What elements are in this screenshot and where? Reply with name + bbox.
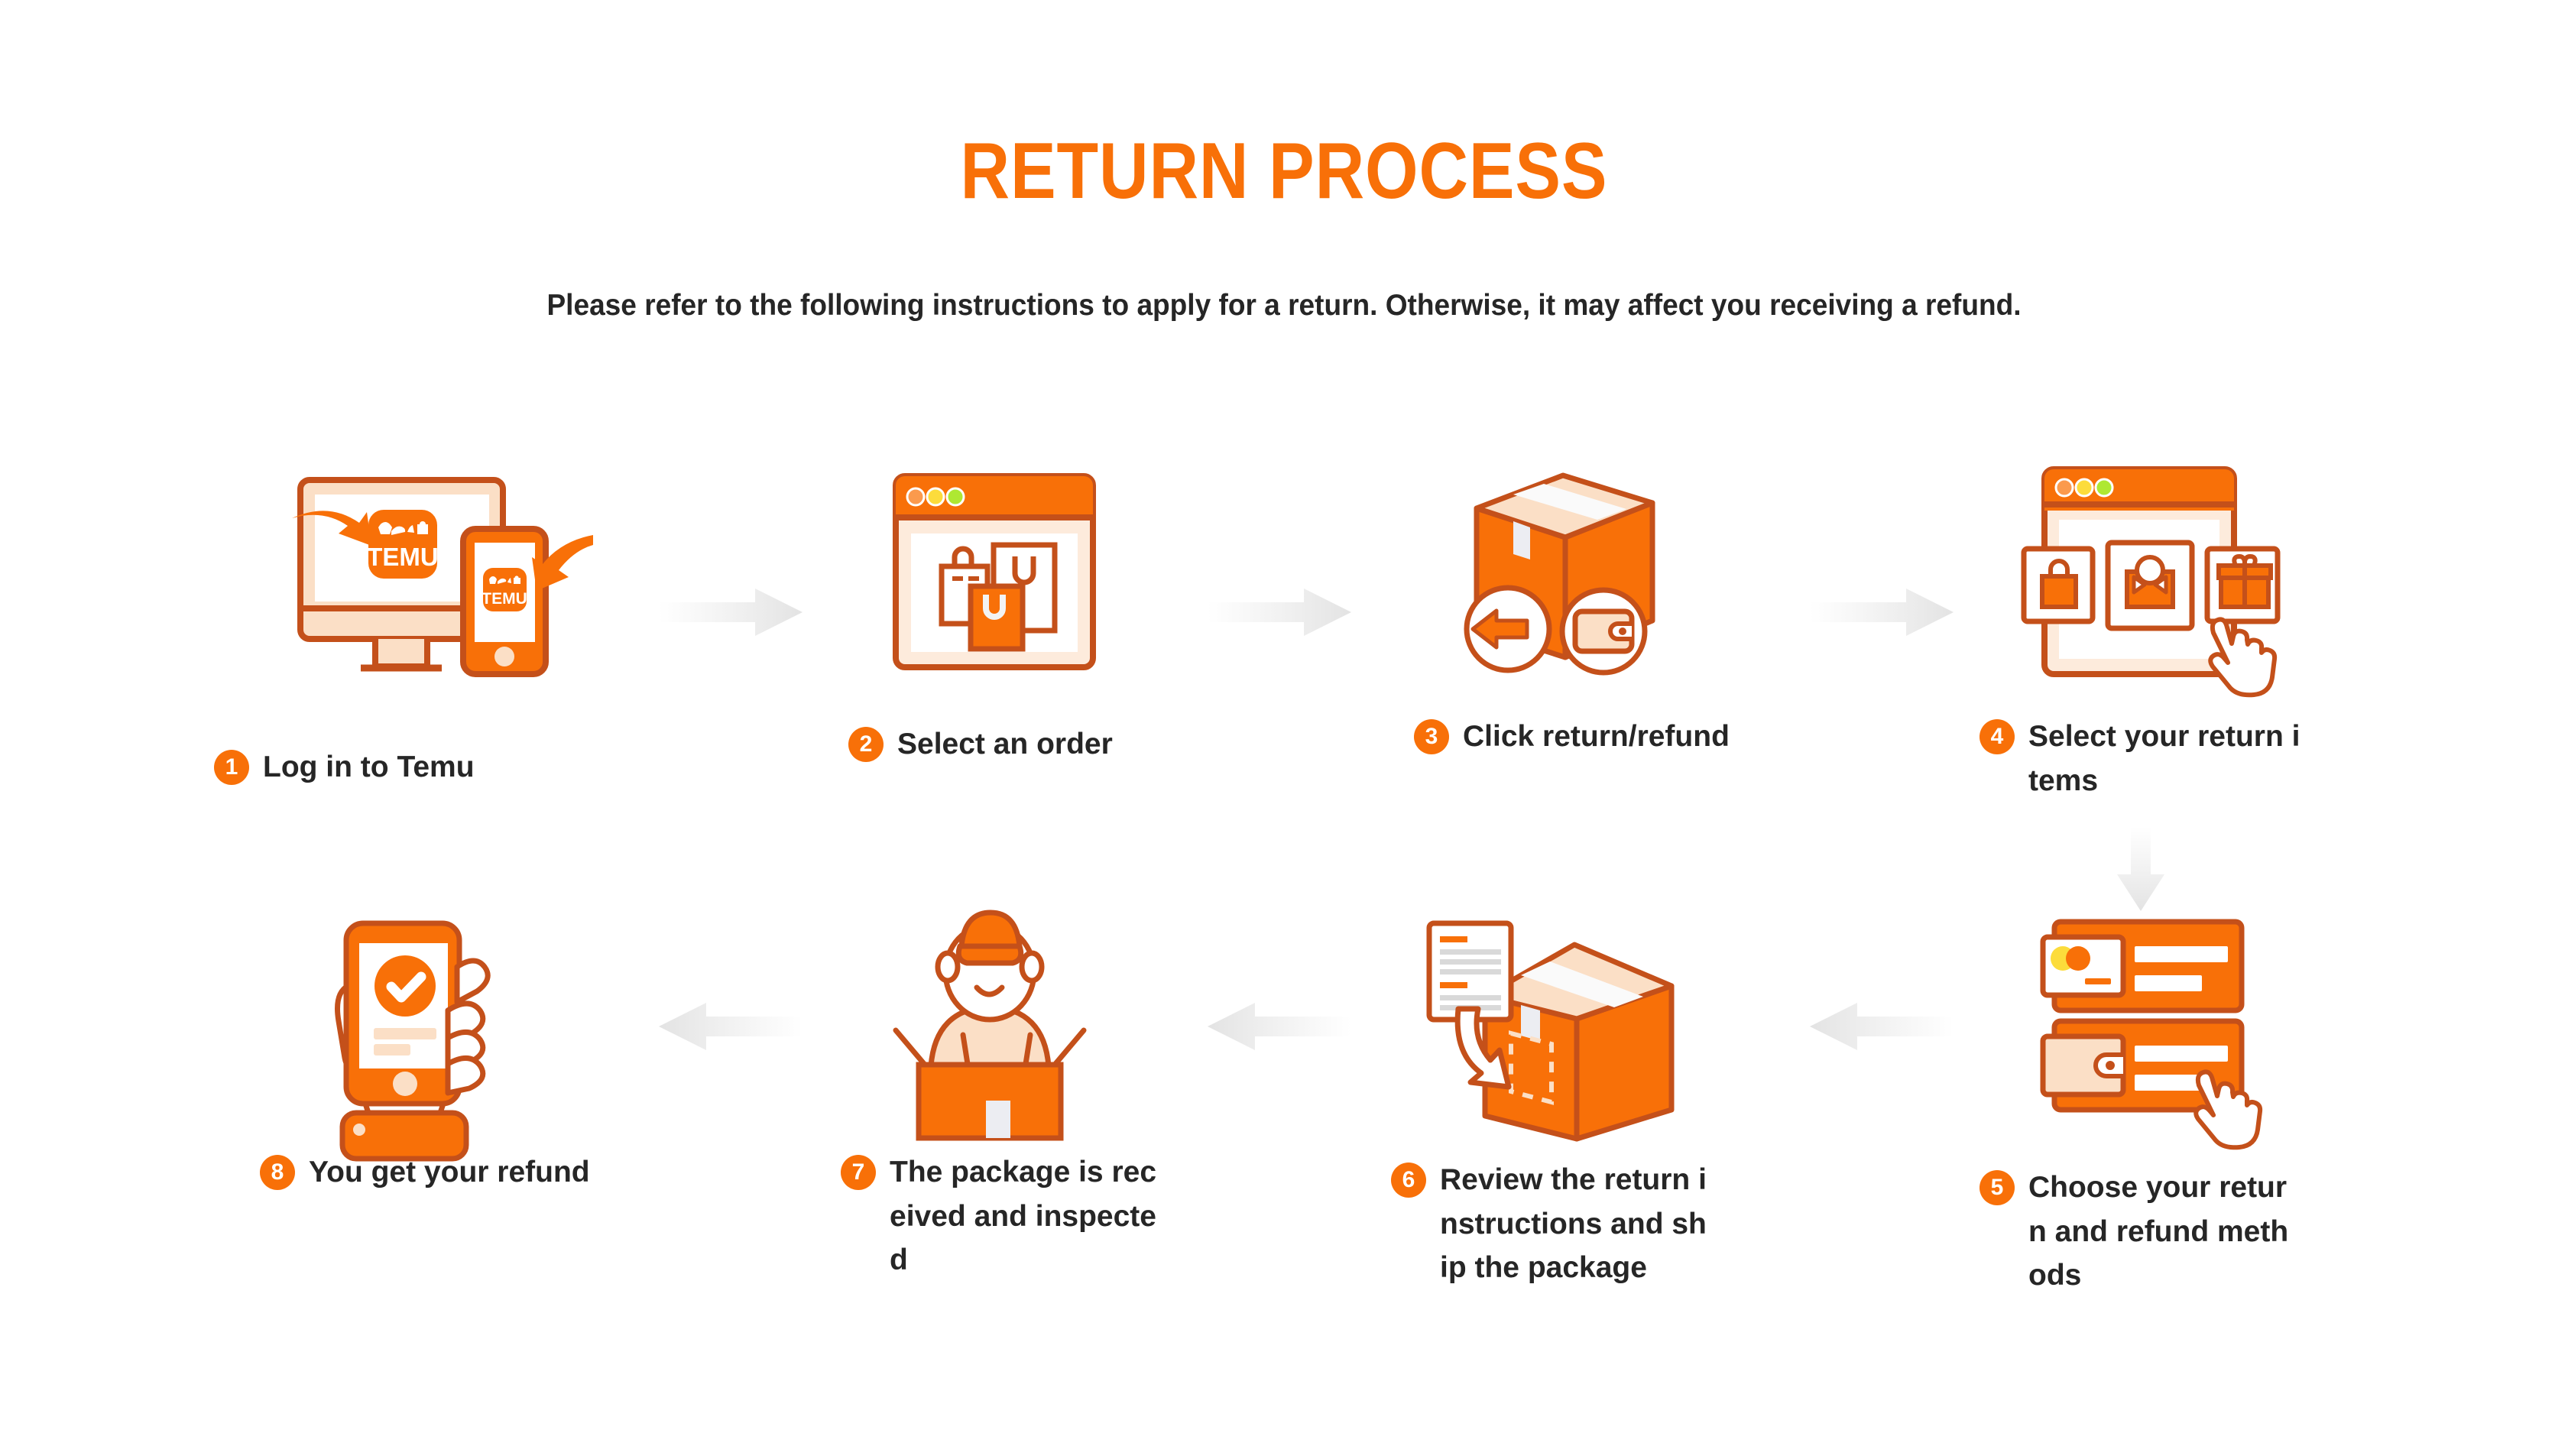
step-7-label-row: 7 The package is received and inspected <box>841 1150 1162 1283</box>
step-2-badge: 2 <box>848 727 884 762</box>
hand-phone-check-icon <box>321 887 550 1143</box>
payment-methods-icon <box>2002 902 2262 1139</box>
temu-logo-text-monitor: TEMU <box>367 543 439 571</box>
step-3: 3 Click return/refund <box>1429 459 1788 703</box>
step-8-badge: 8 <box>260 1155 295 1190</box>
step-8-label: You get your refund <box>309 1150 590 1195</box>
arrow-step4-to-step5 <box>2116 827 2166 913</box>
arrow-step7-to-step8 <box>659 1001 804 1052</box>
step-7-label: The package is received and inspected <box>890 1150 1162 1283</box>
step-1-label-row: 1 Log in to Temu <box>214 745 611 790</box>
step-4-badge: 4 <box>1979 719 2015 754</box>
step-7-badge: 7 <box>841 1155 876 1190</box>
step-1-badge: 1 <box>214 750 249 785</box>
box-return-refund-icon <box>1429 459 1674 680</box>
browser-select-items-icon <box>2002 459 2262 688</box>
step-3-badge: 3 <box>1414 719 1449 754</box>
step-5: 5 Choose your return and refund methods <box>2002 902 2362 1154</box>
monitor-and-phone-temu-icon: TEMU TEMU <box>275 459 619 696</box>
worker-inspect-box-icon <box>864 887 1116 1139</box>
step-5-label-row: 5 Choose your return and refund methods <box>1979 1166 2300 1298</box>
return-process-infographic: RETURN PROCESS Please refer to the follo… <box>0 0 2568 1456</box>
step-1-label: Log in to Temu <box>263 745 475 790</box>
step-5-label: Choose your return and refund methods <box>2028 1166 2300 1298</box>
step-6-badge: 6 <box>1391 1163 1426 1198</box>
browser-order-bags-icon <box>879 466 1108 676</box>
document-on-box-icon <box>1414 894 1689 1139</box>
arrow-step1-to-step2 <box>659 587 804 637</box>
arrow-step6-to-step7 <box>1208 1001 1353 1052</box>
step-3-label: Click return/refund <box>1463 715 1730 759</box>
page-subtitle: Please refer to the following instructio… <box>64 289 2504 323</box>
step-2: 2 Select an order <box>879 466 1238 711</box>
step-8-label-row: 8 You get your refund <box>260 1150 619 1195</box>
step-7: 7 The package is received and inspected <box>864 887 1223 1146</box>
step-6-label: Review the return instructions and ship … <box>1440 1158 1712 1290</box>
step-5-badge: 5 <box>1979 1170 2015 1205</box>
step-6: 6 Review the return instructions and shi… <box>1414 894 1773 1146</box>
step-8: 8 You get your refund <box>321 887 680 1146</box>
hand-cursor-icon <box>2210 619 2275 695</box>
arrow-step2-to-step3 <box>1208 587 1353 637</box>
step-4-label: Select your return items <box>2028 715 2308 803</box>
step-1: TEMU TEMU 1 Log in to Temu <box>275 459 642 703</box>
arrow-step5-to-step6 <box>1810 1001 1955 1052</box>
step-6-label-row: 6 Review the return instructions and shi… <box>1391 1158 1712 1290</box>
temu-logo-text-phone: TEMU <box>481 590 527 608</box>
hand-cursor-icon <box>2196 1072 2260 1147</box>
page-title: RETURN PROCESS <box>180 126 2388 217</box>
step-2-label-row: 2 Select an order <box>848 722 1246 767</box>
arrow-step3-to-step4 <box>1810 587 1955 637</box>
step-4: 4 Select your return items <box>2002 459 2362 703</box>
step-3-label-row: 3 Click return/refund <box>1414 715 1811 759</box>
step-4-label-row: 4 Select your return items <box>1979 715 2308 803</box>
step-2-label: Select an order <box>897 722 1113 767</box>
